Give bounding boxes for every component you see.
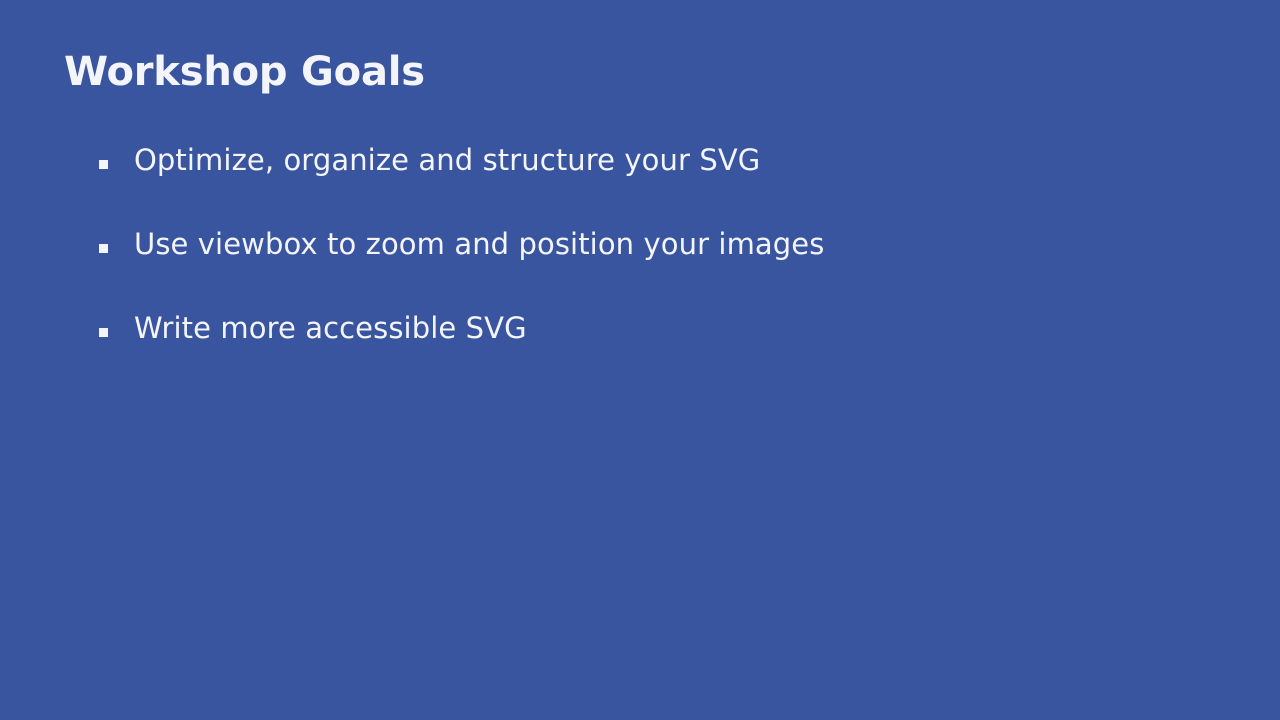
- list-item-label: Use viewbox to zoom and position your im…: [134, 224, 1214, 264]
- square-bullet-icon: [99, 160, 108, 169]
- list-item: Use viewbox to zoom and position your im…: [64, 224, 1214, 308]
- list-item-label: Optimize, organize and structure your SV…: [134, 140, 1214, 180]
- list-item: Optimize, organize and structure your SV…: [64, 140, 1214, 224]
- list-item-label: Write more accessible SVG: [134, 308, 1214, 348]
- list-item: Write more accessible SVG: [64, 308, 1214, 392]
- goals-bullet-list: Optimize, organize and structure your SV…: [64, 140, 1214, 392]
- page-title: Workshop Goals: [64, 48, 425, 96]
- square-bullet-icon: [99, 328, 108, 337]
- presentation-slide: Workshop Goals Optimize, organize and st…: [0, 0, 1280, 720]
- square-bullet-icon: [99, 244, 108, 253]
